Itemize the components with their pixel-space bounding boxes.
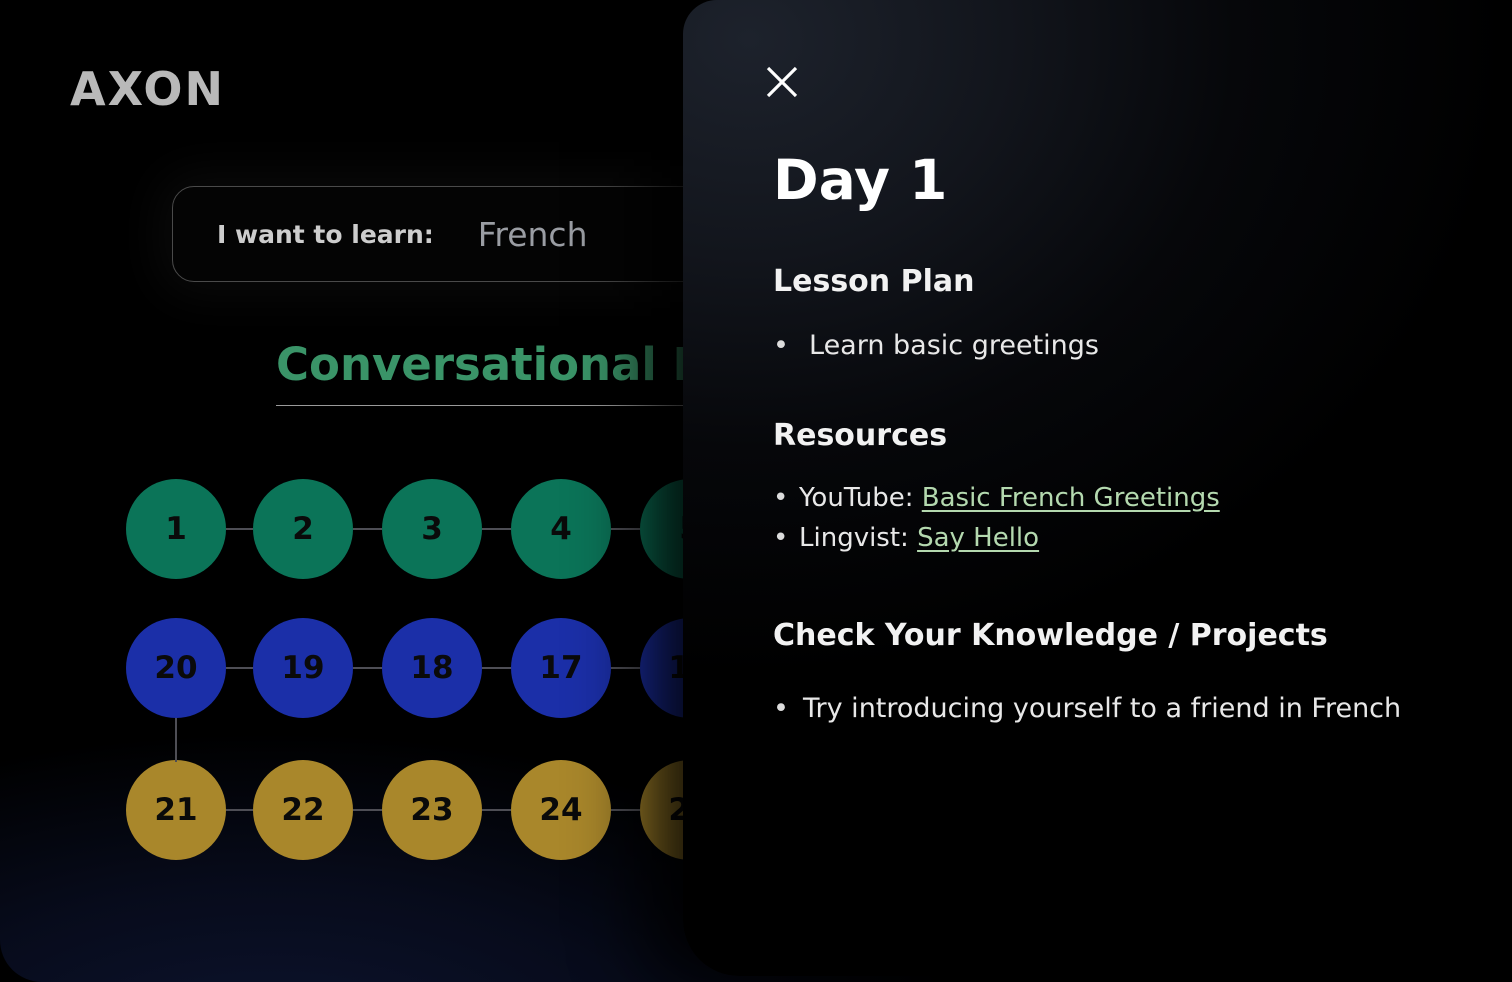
node-connector [353, 528, 382, 530]
section-heading-check-knowledge: Check Your Knowledge / Projects [773, 618, 1328, 653]
node-connector [482, 528, 511, 530]
lesson-node-18[interactable]: 18 [382, 618, 482, 718]
node-connector [611, 528, 640, 530]
list-item: •Try introducing yourself to a friend in… [773, 688, 1401, 730]
close-icon[interactable] [756, 56, 808, 108]
lesson-node-grid: 12345 2019181716 2122232425 [0, 0, 760, 982]
bullet-icon: • [773, 325, 809, 367]
list-item-text: Learn basic greetings [809, 325, 1099, 367]
bullet-icon: • [773, 518, 799, 558]
list-item: •YouTube: Basic French Greetings [773, 478, 1220, 518]
check-knowledge-list: •Try introducing yourself to a friend in… [773, 688, 1401, 730]
bullet-icon: • [773, 688, 803, 730]
lesson-node-21[interactable]: 21 [126, 760, 226, 860]
lesson-node-20[interactable]: 20 [126, 618, 226, 718]
list-item: •Lingvist: Say Hello [773, 518, 1220, 558]
node-connector [611, 809, 640, 811]
lesson-node-19[interactable]: 19 [253, 618, 353, 718]
node-connector [482, 809, 511, 811]
list-item: •Learn basic greetings [773, 325, 1099, 367]
section-heading-lesson-plan: Lesson Plan [773, 264, 974, 299]
lesson-node-2[interactable]: 2 [253, 479, 353, 579]
node-connector [226, 809, 253, 811]
lesson-node-1[interactable]: 1 [126, 479, 226, 579]
lesson-node-4[interactable]: 4 [511, 479, 611, 579]
node-connector [353, 667, 382, 669]
node-connector [226, 667, 253, 669]
lesson-node-23[interactable]: 23 [382, 760, 482, 860]
list-item-text: YouTube: Basic French Greetings [799, 478, 1220, 518]
node-connector [482, 667, 511, 669]
lesson-node-3[interactable]: 3 [382, 479, 482, 579]
section-heading-resources: Resources [773, 418, 947, 453]
resource-link[interactable]: Say Hello [917, 523, 1039, 553]
node-connector [353, 809, 382, 811]
bullet-icon: • [773, 478, 799, 518]
node-connector-vertical [175, 718, 177, 762]
modal-title: Day 1 [773, 148, 947, 212]
app-root: AXON I want to learn: French Conversatio… [0, 0, 1512, 982]
node-connector [611, 667, 640, 669]
lesson-plan-list: •Learn basic greetings [773, 325, 1099, 367]
lesson-node-17[interactable]: 17 [511, 618, 611, 718]
list-item-text: Try introducing yourself to a friend in … [803, 688, 1401, 730]
resources-list: •YouTube: Basic French Greetings•Lingvis… [773, 478, 1220, 558]
list-item-text: Lingvist: Say Hello [799, 518, 1039, 558]
lesson-node-24[interactable]: 24 [511, 760, 611, 860]
resource-link[interactable]: Basic French Greetings [922, 483, 1220, 513]
lesson-node-22[interactable]: 22 [253, 760, 353, 860]
node-connector [226, 528, 253, 530]
day-detail-modal: Day 1 Lesson Plan •Learn basic greetings… [683, 0, 1512, 976]
